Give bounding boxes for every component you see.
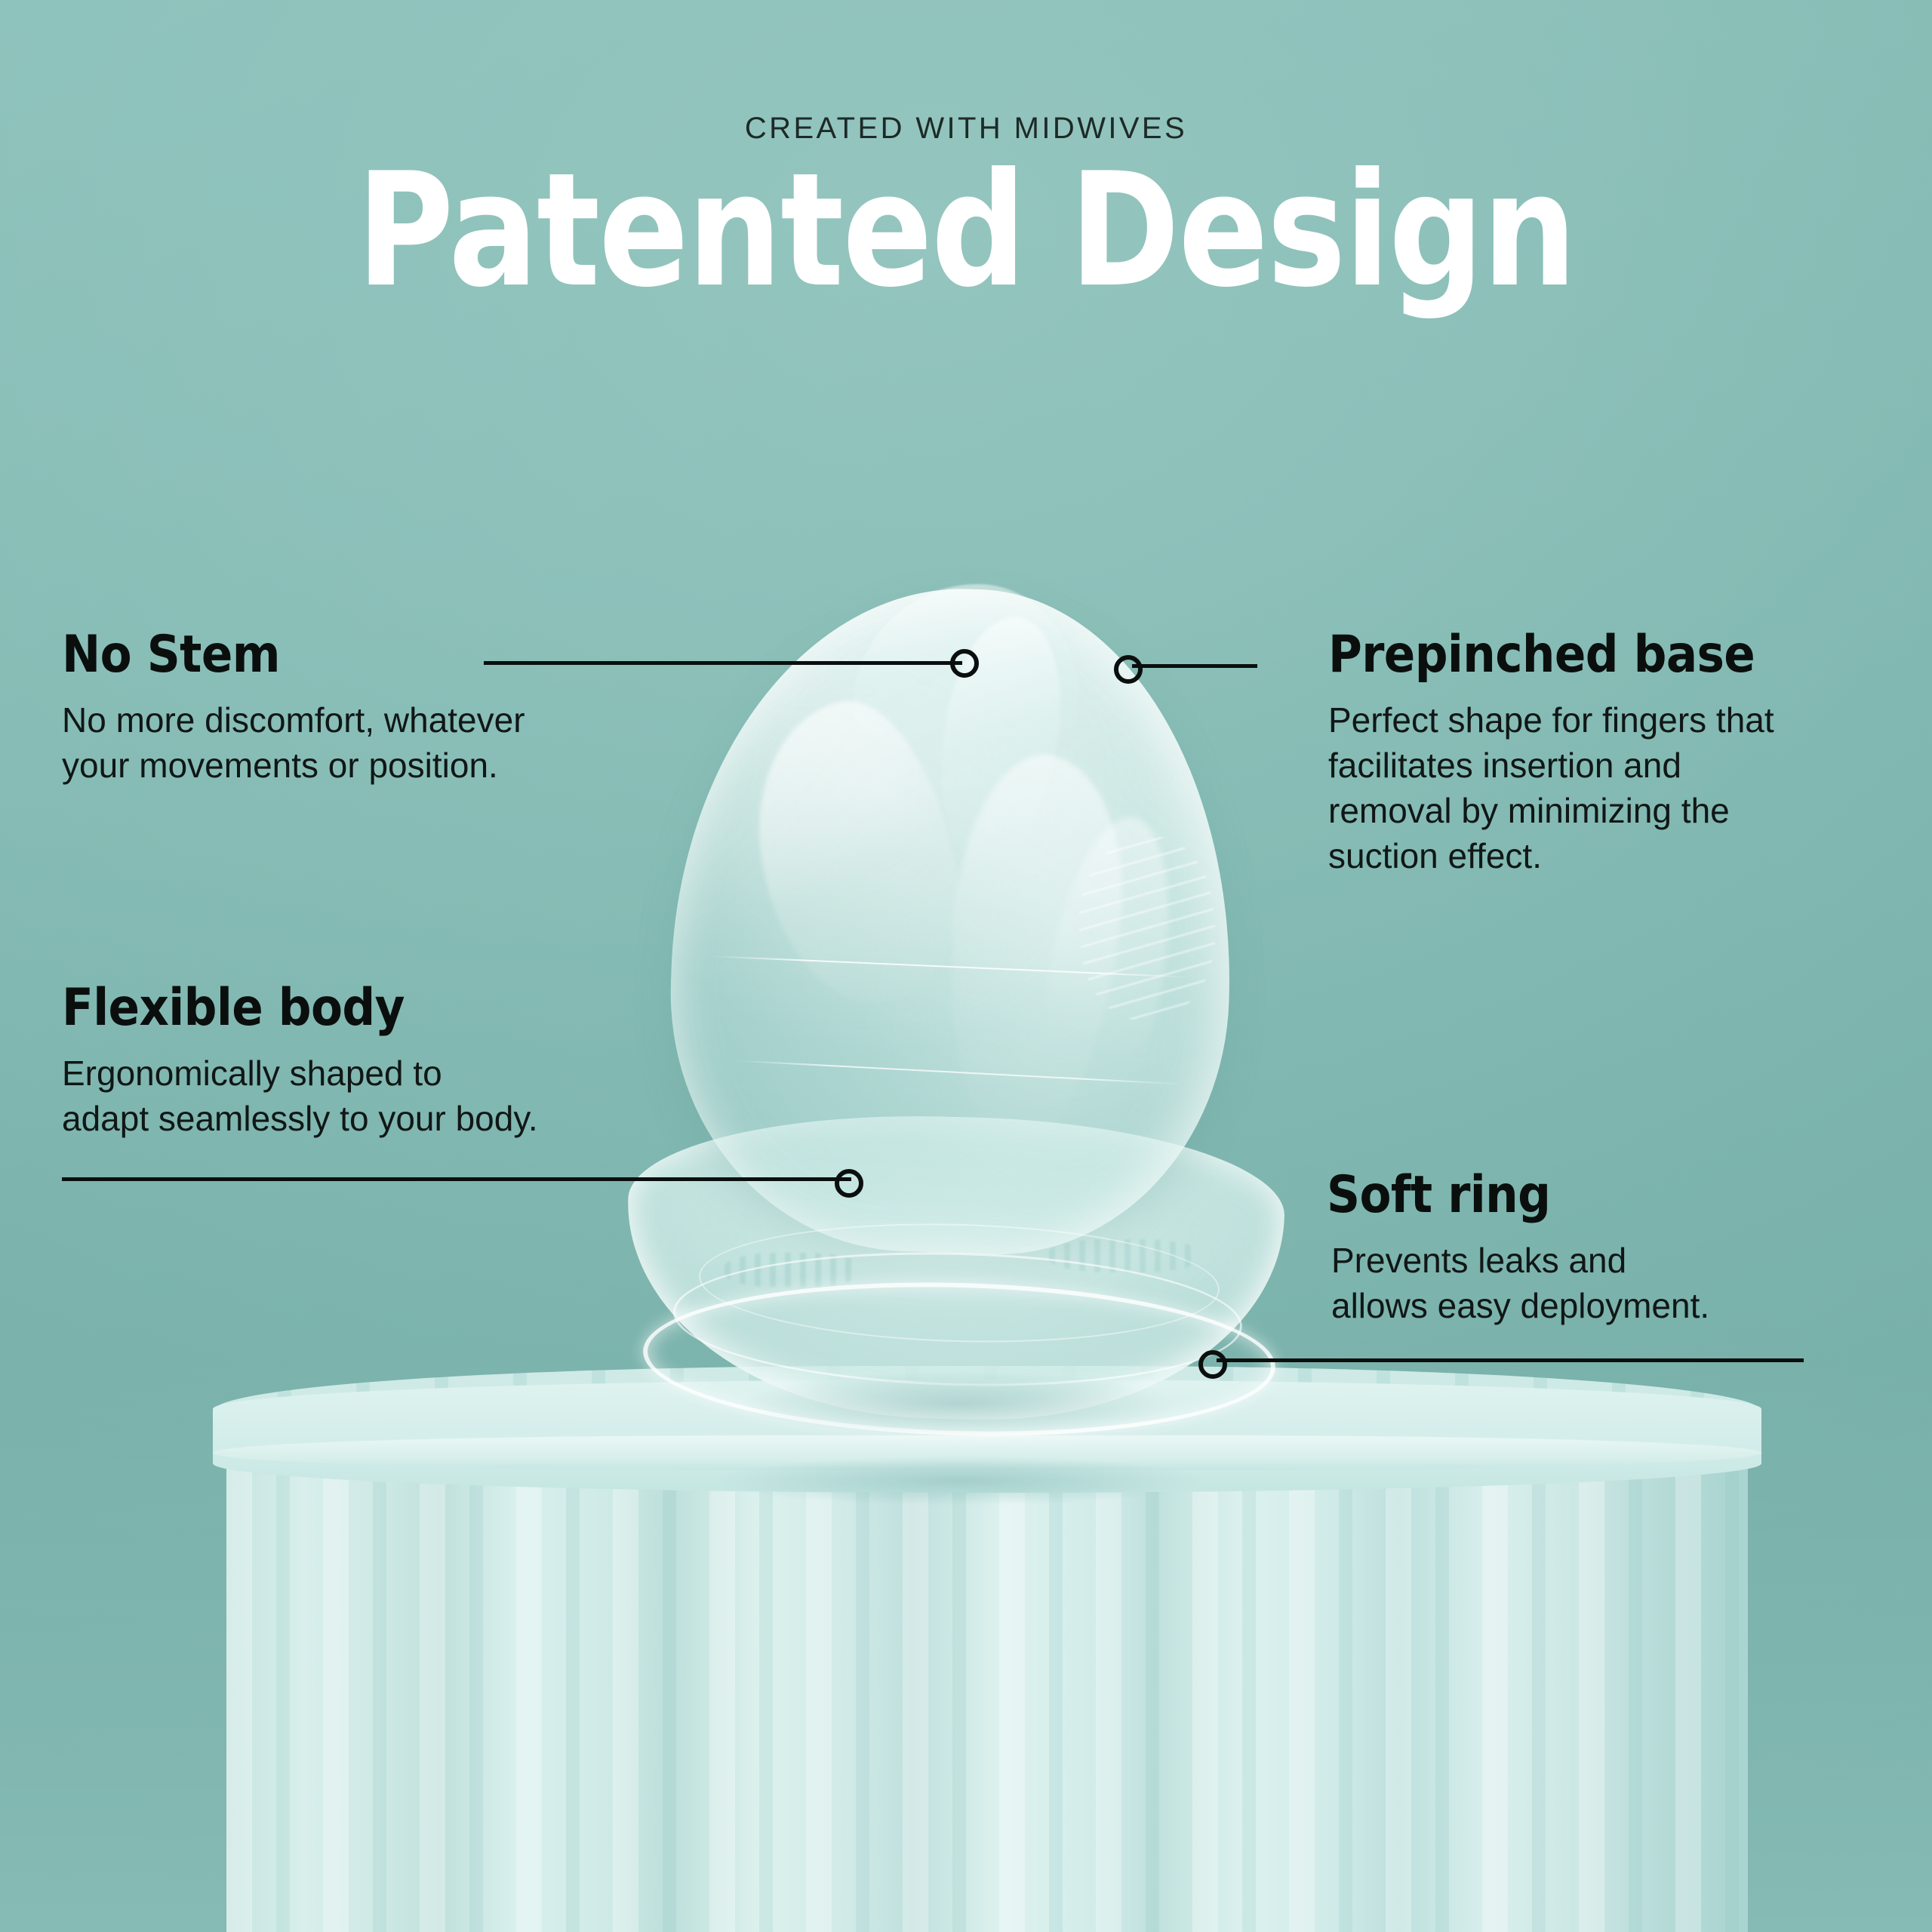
- callout-soft-ring: Soft ring Prevents leaks and allows easy…: [1327, 1168, 1709, 1329]
- pedestal-contact-shadow: [620, 1446, 1300, 1515]
- callout-body-line: allows easy deployment.: [1331, 1284, 1709, 1329]
- callout-heading-no-stem: No Stem: [62, 628, 525, 681]
- callout-body-line: suction effect.: [1328, 834, 1774, 879]
- callout-flexible-body: Flexible body Ergonomically shaped to ad…: [62, 981, 538, 1142]
- page-title: Patented Design: [58, 151, 1874, 311]
- callout-body-line: adapt seamlessly to your body.: [62, 1097, 538, 1142]
- callout-body-line: your movements or position.: [62, 743, 525, 789]
- product-image: [626, 589, 1283, 1434]
- leader-line-prepinched-base: [1132, 664, 1257, 668]
- callout-body-line: removal by minimizing the: [1328, 789, 1774, 834]
- leader-line-no-stem: [484, 661, 962, 665]
- callout-body-line: facilitates insertion and: [1328, 743, 1774, 789]
- callout-heading-prepinched-base: Prepinched base: [1328, 628, 1774, 681]
- callout-body-line: Ergonomically shaped to: [62, 1051, 538, 1097]
- callout-body-line: Perfect shape for fingers that: [1328, 698, 1774, 743]
- callout-body-no-stem: No more discomfort, whatever your moveme…: [62, 698, 525, 789]
- callout-no-stem: No Stem No more discomfort, whatever you…: [62, 628, 525, 789]
- pedestal-flutes: [226, 1449, 1748, 1932]
- leader-dot-soft-ring: [1198, 1350, 1227, 1379]
- callout-body-line: No more discomfort, whatever: [62, 698, 525, 743]
- callout-body-soft-ring: Prevents leaks and allows easy deploymen…: [1331, 1238, 1709, 1329]
- leader-line-flexible-body: [62, 1177, 851, 1181]
- callout-body-prepinched-base: Perfect shape for fingers that facilitat…: [1328, 698, 1774, 878]
- callout-body-flexible-body: Ergonomically shaped to adapt seamlessly…: [62, 1051, 538, 1142]
- callout-body-line: Prevents leaks and: [1331, 1238, 1709, 1284]
- leader-dot-flexible-body: [835, 1169, 863, 1198]
- callout-heading-flexible-body: Flexible body: [62, 981, 538, 1035]
- callout-prepinched-base: Prepinched base Perfect shape for finger…: [1328, 628, 1774, 879]
- leader-dot-prepinched-base: [1114, 655, 1143, 684]
- product-cast-shadow: [657, 1358, 1260, 1449]
- callout-heading-soft-ring: Soft ring: [1327, 1168, 1709, 1222]
- leader-dot-no-stem: [950, 649, 979, 678]
- leader-line-soft-ring: [1217, 1358, 1804, 1362]
- infographic-canvas: CREATED WITH MIDWIVES Patented Design No…: [0, 0, 1932, 1932]
- product-pedestal: [213, 1380, 1761, 1932]
